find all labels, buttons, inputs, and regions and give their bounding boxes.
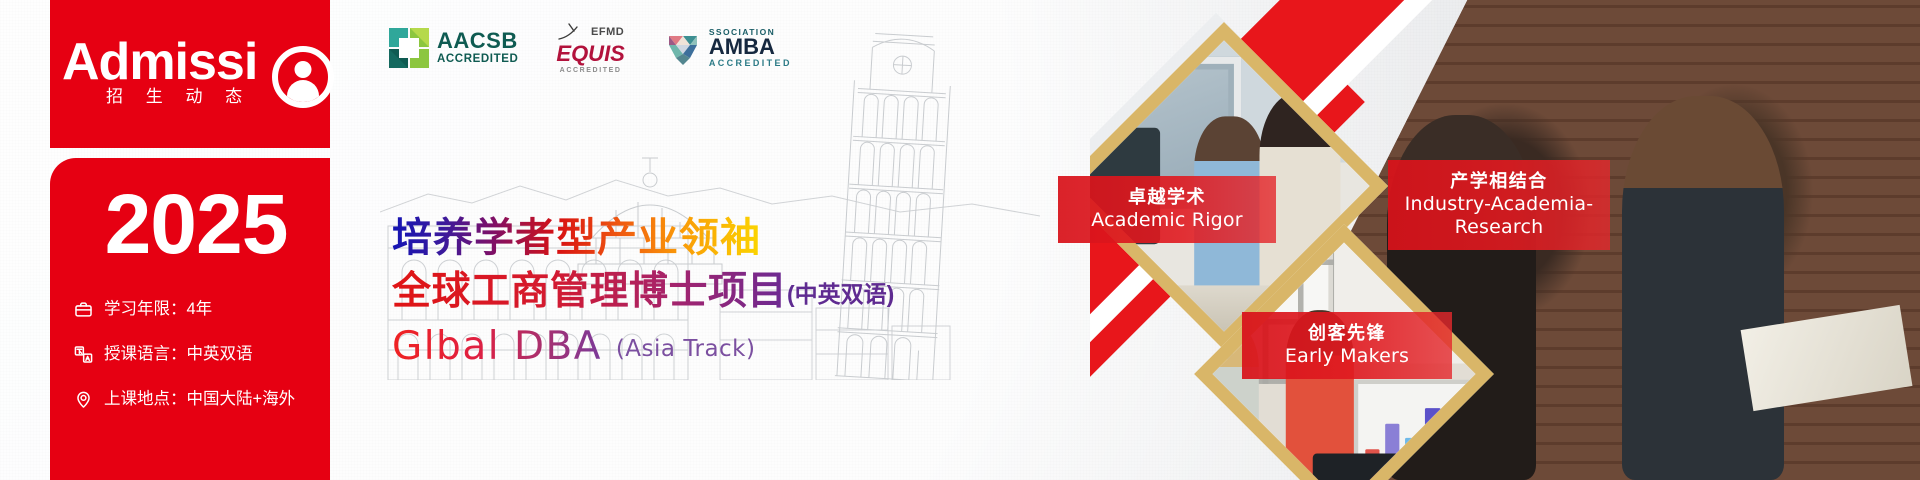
label-cn: 产学相结合 (1402, 169, 1596, 193)
left-red-panel: Admissi 招 生 动 态 2025 学习年限：4年 (0, 0, 330, 480)
amba-gem-icon (663, 28, 703, 68)
meta-item-location: 上课地点：中国大陆+海外 (74, 390, 324, 409)
label-industry-academia-research[interactable]: 产学相结合 Industry-Academia-Research (1388, 160, 1610, 250)
amba-logo: SSOCIATION AMBA ACCREDITED (663, 28, 792, 68)
admission-banner: Admissi 招 生 动 态 2025 学习年限：4年 (0, 0, 1920, 480)
program-title-cn: 全球工商管理博士项目(中英双语) (392, 269, 1032, 317)
efmd-label: EFMD (591, 27, 624, 38)
label-cn: 创客先锋 (1256, 321, 1438, 345)
program-title-cn-suffix: (中英双语) (787, 281, 894, 307)
label-en: Academic Rigor (1072, 209, 1262, 232)
program-title-en-suffix: (Asia Track) (616, 336, 756, 362)
label-cn: 卓越学术 (1072, 185, 1262, 209)
aacsb-logo: AACSB ACCREDITED (388, 27, 518, 69)
amba-wordmark: AMBA (709, 36, 792, 58)
label-en: Industry-Academia-Research (1402, 193, 1596, 239)
briefcase-icon (74, 300, 93, 319)
accreditation-logos: AACSB ACCREDITED EFMD EQUIS ACCREDITED (388, 22, 792, 74)
meta-item-duration: 学习年限：4年 (74, 300, 324, 319)
aacsb-line1: AACSB (437, 30, 518, 52)
tagline: 培养学者型产业领袖 (392, 215, 761, 261)
location-pin-icon (74, 390, 93, 409)
aacsb-line2: ACCREDITED (437, 54, 518, 66)
label-academic-rigor[interactable]: 卓越学术 Academic Rigor (1058, 176, 1276, 243)
meta-item-language: 授课语言：中英双语 (74, 345, 324, 364)
language-icon (74, 345, 93, 364)
label-early-makers[interactable]: 创客先锋 Early Makers (1242, 312, 1452, 379)
meta-label: 授课语言：中英双语 (104, 346, 253, 363)
program-title-en-main: Glbal DBA (392, 324, 602, 369)
amba-accredited-label: ACCREDITED (709, 59, 792, 68)
person-in-circle-icon (272, 46, 334, 108)
amba-text: SSOCIATION AMBA ACCREDITED (709, 28, 792, 68)
program-title-cn-main: 全球工商管理博士项目 (392, 270, 787, 313)
aacsb-square-icon (388, 27, 430, 69)
year-label: 2025 (62, 182, 330, 266)
meta-label: 学习年限：4年 (104, 301, 212, 318)
headline-block: 培养学者型产业领袖 全球工商管理博士项目(中英双语) Glbal DBA (As… (392, 215, 1032, 371)
program-meta-list: 学习年限：4年 授课语言：中英双语 (74, 300, 324, 435)
equis-logo: EFMD EQUIS ACCREDITED (556, 22, 624, 74)
equis-wordmark: EQUIS (556, 43, 624, 65)
meta-label: 上课地点：中国大陆+海外 (104, 391, 295, 408)
admission-logo: Admissi 招 生 动 态 (62, 26, 330, 116)
aacsb-text: AACSB ACCREDITED (437, 30, 518, 66)
equis-accredited-label: ACCREDITED (556, 67, 624, 74)
label-en: Early Makers (1256, 345, 1438, 368)
program-title-en: Glbal DBA (Asia Track) (392, 325, 1032, 371)
efmd-swoosh-icon (557, 22, 587, 42)
